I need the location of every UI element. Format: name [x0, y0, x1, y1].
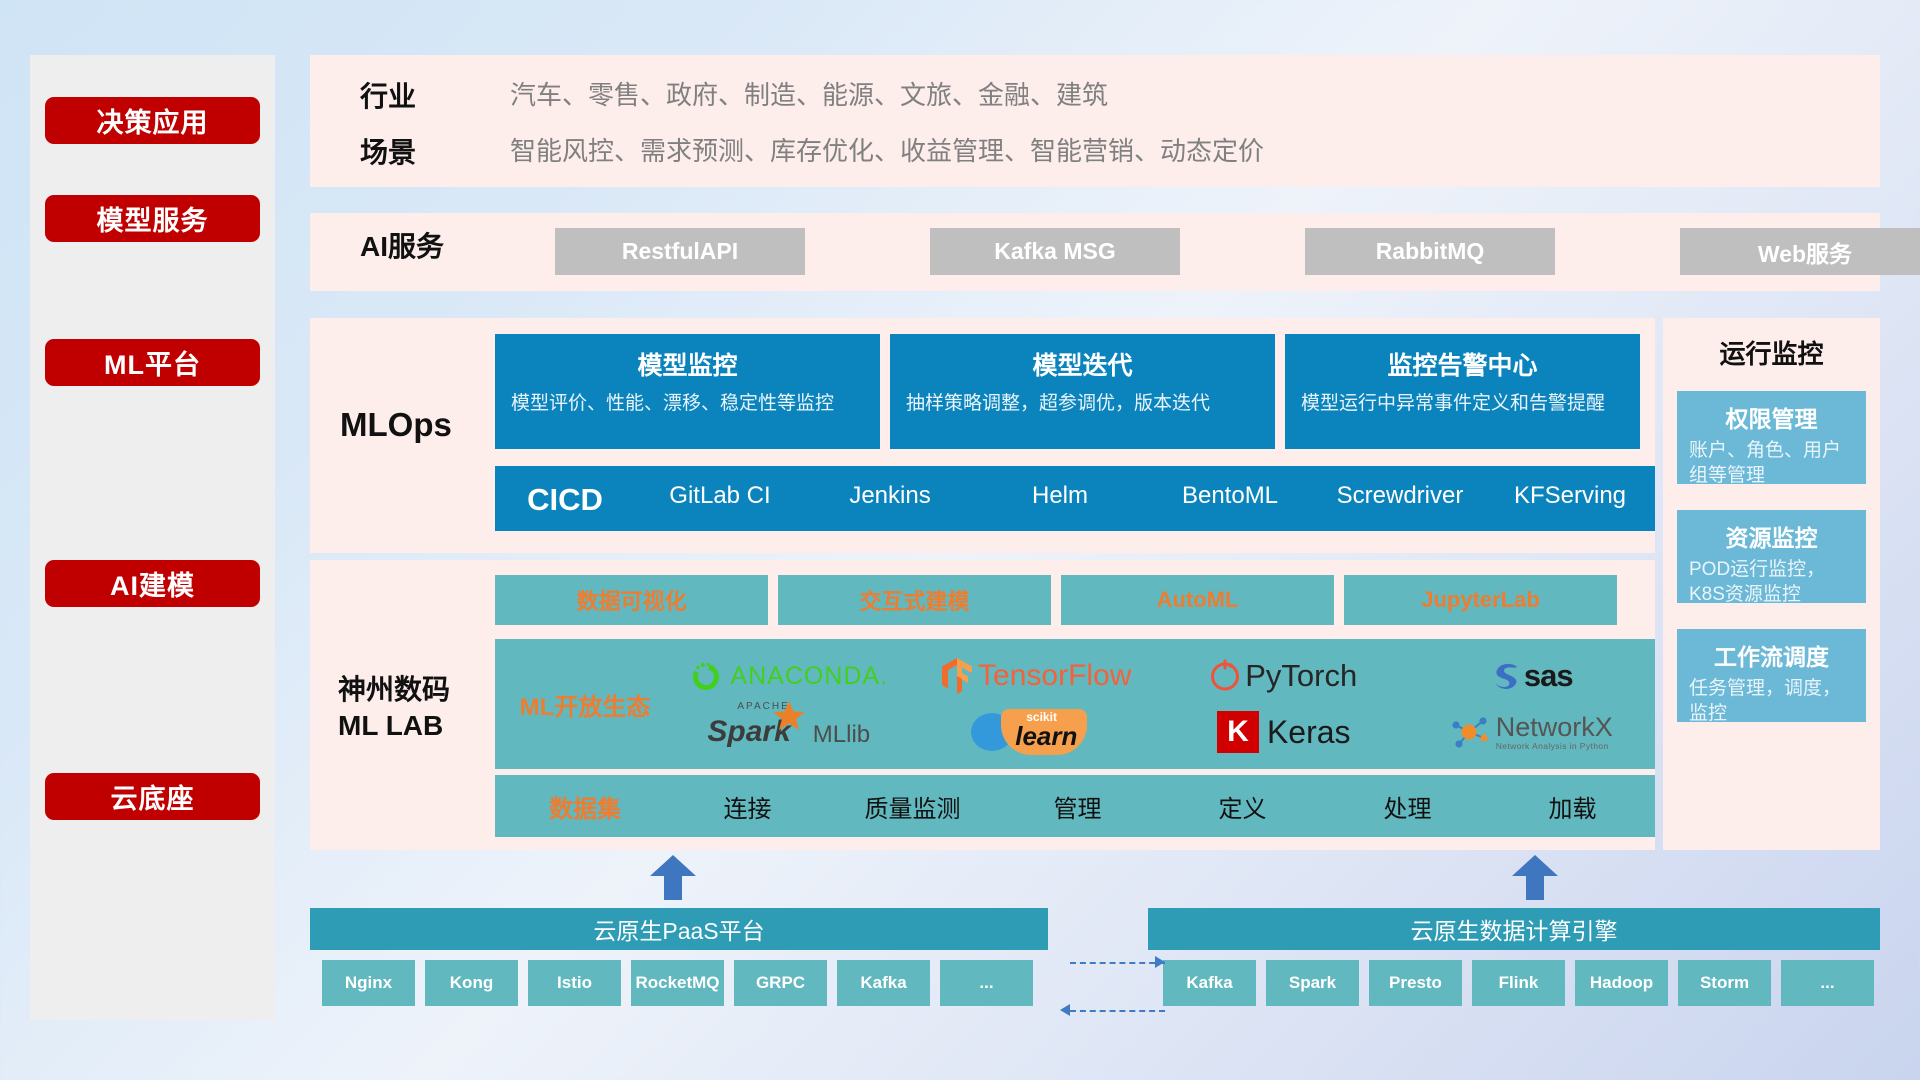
dataset-item-quality[interactable]: 质量监测	[830, 789, 995, 824]
card-title: 模型监控	[511, 346, 864, 382]
card-title: 监控告警中心	[1301, 346, 1624, 382]
anaconda-icon	[689, 659, 723, 693]
tool-box-automl[interactable]: AutoML	[1061, 575, 1334, 625]
spark-star-icon	[771, 699, 807, 733]
connector-arrow-right-icon	[1155, 956, 1165, 968]
networkx-icon	[1450, 713, 1490, 751]
ai-service-panel: AI服务 RestfulAPI Kafka MSG RabbitMQ Web服务	[310, 213, 1880, 291]
scenario-label: 场景	[360, 133, 416, 174]
connector-dashed-bottom	[1070, 1010, 1165, 1012]
card-title: 模型迭代	[906, 346, 1259, 382]
rail-item-ai-modeling[interactable]: AI建模	[45, 560, 260, 607]
industry-list: 汽车、零售、政府、制造、能源、文旅、金融、建筑	[510, 77, 1108, 115]
cicd-strip: CICD GitLab CI Jenkins Helm BentoML Scre…	[495, 466, 1655, 531]
card-title: 资源监控	[1689, 519, 1854, 553]
chip-kafka-left[interactable]: Kafka	[837, 960, 930, 1006]
tensorflow-icon	[941, 657, 974, 695]
sas-wordmark: sas	[1524, 658, 1573, 694]
dataset-item-load[interactable]: 加载	[1490, 789, 1655, 824]
anaconda-wordmark: ANACONDA.	[730, 662, 888, 691]
monitor-card-permission[interactable]: 权限管理 账户、角色、用户组等管理	[1677, 391, 1866, 484]
tool-box-data-visualization[interactable]: 数据可视化	[495, 575, 768, 625]
ml-ecosystem-label: ML开放生态	[495, 687, 665, 722]
chip-more-left[interactable]: ...	[940, 960, 1033, 1006]
cicd-item-screwdriver[interactable]: Screwdriver	[1315, 482, 1485, 510]
cicd-item-bentoml[interactable]: BentoML	[1145, 482, 1315, 510]
chip-hadoop[interactable]: Hadoop	[1575, 960, 1668, 1006]
chip-kong[interactable]: Kong	[425, 960, 518, 1006]
ai-service-chip-web-service[interactable]: Web服务	[1680, 228, 1920, 275]
tensorflow-wordmark: TensorFlow	[978, 659, 1131, 693]
card-title: 工作流调度	[1689, 638, 1854, 672]
up-arrow-right-icon	[1512, 855, 1558, 900]
connector-arrow-left-icon	[1060, 1004, 1070, 1016]
mlops-card-alert-center[interactable]: 监控告警中心 模型运行中异常事件定义和告警提醒	[1285, 334, 1640, 449]
ml-ecosystem-logos: ANACONDA. TensorFlow PyTorch	[665, 648, 1655, 760]
dataset-item-process[interactable]: 处理	[1325, 789, 1490, 824]
rail-item-ml-platform[interactable]: ML平台	[45, 339, 260, 386]
anaconda-logo[interactable]: ANACONDA.	[665, 659, 913, 693]
mlops-card-model-iteration[interactable]: 模型迭代 抽样策略调整，超参调优，版本迭代	[890, 334, 1275, 449]
ai-service-label: AI服务	[360, 227, 444, 268]
spark-mllib-logo[interactable]: APACHE Spark MLlib	[665, 715, 913, 749]
sas-logo[interactable]: sas	[1408, 658, 1656, 694]
industry-label: 行业	[360, 77, 416, 118]
mllib-wordmark: MLlib	[813, 721, 870, 749]
dataset-item-define[interactable]: 定义	[1160, 789, 1325, 824]
keras-mark: K	[1217, 711, 1259, 753]
runtime-monitoring-panel: 运行监控 权限管理 账户、角色、用户组等管理 资源监控 POD运行监控，K8S资…	[1663, 318, 1880, 850]
connector-dashed-top	[1070, 962, 1165, 964]
ai-service-chip-rabbitmq[interactable]: RabbitMQ	[1305, 228, 1555, 275]
cicd-label: CICD	[495, 482, 635, 518]
cicd-item-gitlab-ci[interactable]: GitLab CI	[635, 482, 805, 510]
pytorch-icon	[1210, 658, 1240, 694]
ai-service-chip-kafka-msg[interactable]: Kafka MSG	[930, 228, 1180, 275]
dataset-strip: 数据集 连接 质量监测 管理 定义 处理 加载	[495, 775, 1655, 837]
ai-service-chip-restfulapi[interactable]: RestfulAPI	[555, 228, 805, 275]
dataset-item-connect[interactable]: 连接	[665, 789, 830, 824]
chip-presto[interactable]: Presto	[1369, 960, 1462, 1006]
card-title: 权限管理	[1689, 400, 1854, 434]
scenario-list: 智能风控、需求预测、库存优化、收益管理、智能营销、动态定价	[510, 133, 1264, 171]
keras-logo[interactable]: K Keras	[1160, 711, 1408, 753]
sas-icon	[1490, 659, 1524, 693]
ml-lab-label-line2: ML LAB	[338, 708, 450, 744]
chip-flink[interactable]: Flink	[1472, 960, 1565, 1006]
networkx-logo[interactable]: NetworkX Network Analysis in Python	[1408, 713, 1656, 751]
dataset-label: 数据集	[495, 789, 665, 824]
card-body: 抽样策略调整，超参调优，版本迭代	[906, 391, 1259, 416]
networkx-wordmark: NetworkX	[1496, 714, 1613, 741]
chip-rocketmq[interactable]: RocketMQ	[631, 960, 724, 1006]
ml-lab-label: 神州数码 ML LAB	[338, 672, 450, 745]
mlops-label: MLOps	[340, 406, 452, 444]
chip-grpc[interactable]: GRPC	[734, 960, 827, 1006]
card-body: 模型运行中异常事件定义和告警提醒	[1301, 391, 1624, 416]
keras-mark-letter: K	[1227, 715, 1249, 749]
pytorch-logo[interactable]: PyTorch	[1160, 658, 1408, 694]
ml-lab-label-line1: 神州数码	[338, 672, 450, 708]
card-body: POD运行监控，K8S资源监控	[1689, 558, 1854, 603]
card-body: 账户、角色、用户组等管理	[1689, 439, 1854, 484]
rail-item-decision[interactable]: 决策应用	[45, 97, 260, 144]
tensorflow-logo[interactable]: TensorFlow	[913, 657, 1161, 695]
card-body: 模型评价、性能、漂移、稳定性等监控	[511, 391, 864, 416]
layer-rail: 决策应用 模型服务 ML平台 AI建模 云底座	[30, 55, 275, 1020]
keras-wordmark: Keras	[1267, 714, 1351, 751]
paas-platform-bar[interactable]: 云原生PaaS平台	[310, 908, 1048, 950]
data-compute-engine-bar[interactable]: 云原生数据计算引擎	[1148, 908, 1880, 950]
logo-row-top: ANACONDA. TensorFlow PyTorch	[665, 648, 1655, 704]
up-arrow-left-icon	[650, 855, 696, 900]
chip-more-right[interactable]: ...	[1781, 960, 1874, 1006]
cicd-item-kfserving[interactable]: KFServing	[1485, 482, 1655, 510]
ml-ecosystem-box: ML开放生态 ANACONDA. TensorFl	[495, 639, 1655, 769]
pytorch-wordmark: PyTorch	[1245, 658, 1357, 694]
runtime-monitoring-title: 运行监控	[1663, 318, 1880, 371]
chip-nginx[interactable]: Nginx	[322, 960, 415, 1006]
decision-application-panel: 行业 汽车、零售、政府、制造、能源、文旅、金融、建筑 场景 智能风控、需求预测、…	[310, 55, 1880, 187]
tool-box-interactive-modeling[interactable]: 交互式建模	[778, 575, 1051, 625]
networkx-tagline: Network Analysis in Python	[1496, 741, 1613, 751]
scikit-learn-logo[interactable]: scikit learn	[913, 709, 1161, 755]
chip-istio[interactable]: Istio	[528, 960, 621, 1006]
rail-item-model-service[interactable]: 模型服务	[45, 195, 260, 242]
mlops-card-model-monitor[interactable]: 模型监控 模型评价、性能、漂移、稳定性等监控	[495, 334, 880, 449]
cicd-item-helm[interactable]: Helm	[975, 482, 1145, 510]
monitor-card-resource[interactable]: 资源监控 POD运行监控，K8S资源监控	[1677, 510, 1866, 603]
tool-box-jupyterlab[interactable]: JupyterLab	[1344, 575, 1617, 625]
cicd-item-jenkins[interactable]: Jenkins	[805, 482, 975, 510]
monitor-card-workflow[interactable]: 工作流调度 任务管理，调度，监控	[1677, 629, 1866, 722]
chip-kafka-right[interactable]: Kafka	[1163, 960, 1256, 1006]
chip-storm[interactable]: Storm	[1678, 960, 1771, 1006]
chip-spark[interactable]: Spark	[1266, 960, 1359, 1006]
logo-row-bottom: APACHE Spark MLlib scikit learn	[665, 704, 1655, 760]
card-body: 任务管理，调度，监控	[1689, 677, 1854, 722]
dataset-item-manage[interactable]: 管理	[995, 789, 1160, 824]
rail-item-cloud-base[interactable]: 云底座	[45, 773, 260, 820]
learn-wordmark: learn	[1015, 721, 1077, 752]
